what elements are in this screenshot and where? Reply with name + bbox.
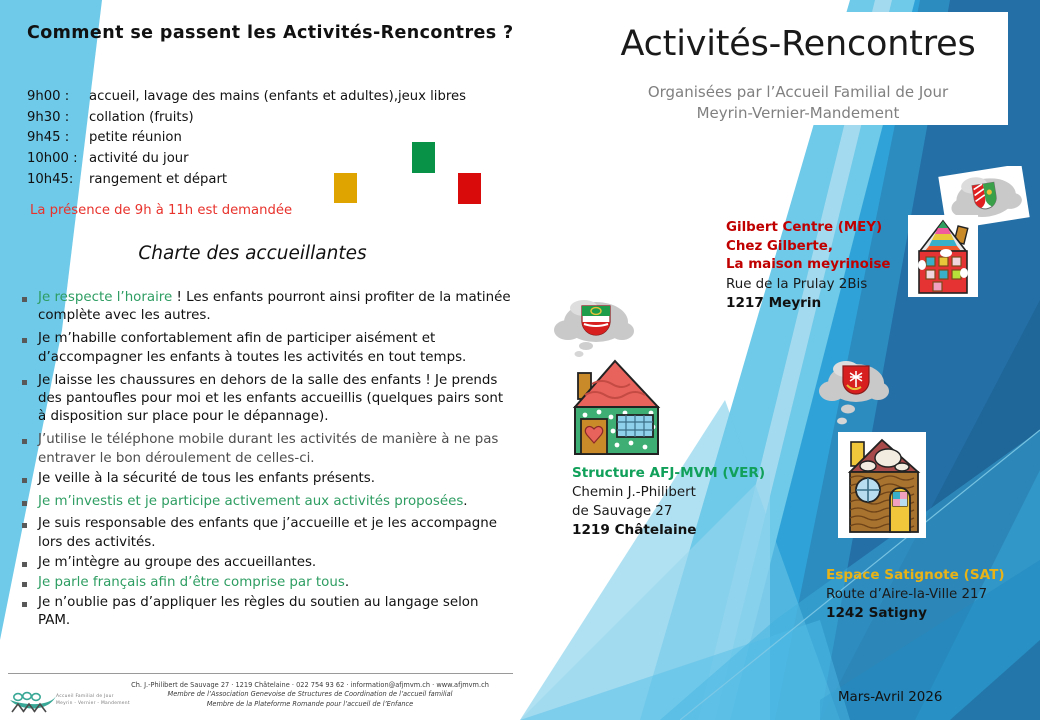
bullet-icon — [22, 574, 38, 592]
location-name-line-2: Chez Gilberte, — [726, 238, 906, 257]
page-title: Comment se passent les Activités-Rencont… — [27, 23, 514, 43]
subtitle-line-2: Meyrin-Vernier-Mandement — [588, 103, 1008, 124]
list-item: J’utilise le téléphone mobile durant les… — [22, 431, 514, 468]
charter-text: Je respecte l’horaire ! Les enfants pour… — [38, 289, 514, 326]
charter-text: Je suis responsable des enfants que j’ac… — [38, 515, 514, 552]
charter-text: Je m’investis et je participe activement… — [38, 493, 514, 511]
location-street-line-2: de Sauvage 27 — [572, 502, 802, 521]
schedule-time: 10h45: — [27, 170, 89, 191]
schedule-activity: accueil, lavage des mains (enfants et ad… — [89, 87, 466, 108]
bullet-icon — [22, 493, 38, 511]
charter-text: J’utilise le téléphone mobile durant les… — [38, 431, 514, 468]
satigny-crest-icon — [812, 353, 898, 431]
location-street: Route d’Aire-la-Ville 217 — [826, 585, 1036, 604]
bullet-icon — [22, 289, 38, 326]
charter-lead: Je parle français afin d’être comprise p… — [38, 575, 345, 590]
charter-rest: . — [463, 494, 467, 509]
flyer-title: Activités-Rencontres — [588, 24, 1008, 64]
wooden-house-icon — [838, 432, 926, 538]
address-structure-afj-mvm: Structure AFJ-MVM (VER) Chemin J.-Philib… — [572, 464, 802, 540]
subtitle-line-1: Organisées par l’Accueil Familial de Jou… — [588, 82, 1008, 103]
bullet-icon — [22, 594, 38, 631]
schedule-list: 9h00 : accueil, lavage des mains (enfant… — [27, 87, 466, 191]
charter-list: Je respecte l’horaire ! Les enfants pour… — [22, 289, 514, 635]
charter-text: Je veille à la sécurité de tous les enfa… — [38, 470, 514, 488]
footer-divider — [8, 673, 513, 674]
bullet-icon — [22, 554, 38, 572]
location-city: 1242 Satigny — [826, 604, 1036, 623]
bullet-icon — [22, 470, 38, 488]
footer-line-2: Membre de l’Association Genevoise de Str… — [110, 690, 510, 699]
footer-line-3: Membre de la Plateforme Romande pour l’a… — [110, 700, 510, 709]
bullet-icon — [22, 431, 38, 468]
charter-lead: Je m’investis et je participe activement… — [38, 494, 463, 509]
schedule-activity: petite réunion — [89, 128, 466, 149]
list-item: Je m’investis et je participe activement… — [22, 493, 514, 511]
list-item: Je laisse les chaussures en dehors de la… — [22, 372, 514, 427]
list-item: Je m’intègre au groupe des accueillantes… — [22, 554, 514, 572]
schedule-activity: rangement et départ — [89, 170, 466, 191]
charter-text: Je n’oublie pas d’appliquer les règles d… — [38, 594, 514, 631]
location-street-line-1: Chemin J.-Philibert — [572, 483, 802, 502]
green-house-icon — [565, 355, 667, 463]
footer-text: Ch. J.-Philibert de Sauvage 27 · 1219 Ch… — [110, 681, 510, 709]
location-street: Rue de la Prulay 2Bis — [726, 275, 906, 294]
charter-title: Charte des accueillantes — [0, 243, 525, 264]
green-flag-icon — [412, 142, 435, 173]
location-name-line-1: Structure AFJ-MVM (VER) — [572, 464, 802, 483]
schedule-row: 10h45: rangement et départ — [27, 170, 466, 191]
footer-line-1: Ch. J.-Philibert de Sauvage 27 · 1219 Ch… — [110, 681, 510, 690]
left-column: Comment se passent les Activités-Rencont… — [0, 0, 525, 720]
presence-note: La présence de 9h à 11h est demandée — [30, 203, 292, 218]
bullet-icon — [22, 515, 38, 552]
location-name-line-1: Espace Satignote (SAT) — [826, 566, 1036, 585]
location-name-line-3: La maison meyrinoise — [726, 256, 906, 275]
list-item: Je veille à la sécurité de tous les enfa… — [22, 470, 514, 488]
date-range: Mars-Avril 2026 — [838, 690, 942, 705]
charter-text: Je m’intègre au groupe des accueillantes… — [38, 554, 514, 572]
schedule-row: 9h30 : collation (fruits) — [27, 108, 466, 129]
schedule-time: 9h30 : — [27, 108, 89, 129]
location-city: 1217 Meyrin — [726, 294, 906, 313]
list-item: Je n’oublie pas d’appliquer les règles d… — [22, 594, 514, 631]
schedule-row: 9h00 : accueil, lavage des mains (enfant… — [27, 87, 466, 108]
schedule-time: 10h00 : — [27, 149, 89, 170]
location-name-line-1: Gilbert Centre (MEY) — [726, 219, 906, 238]
red-flag-icon — [458, 173, 481, 204]
list-item: Je suis responsable des enfants que j’ac… — [22, 515, 514, 552]
red-house-icon — [908, 215, 978, 297]
schedule-row: 10h00 : activité du jour — [27, 149, 466, 170]
schedule-time: 9h00 : — [27, 87, 89, 108]
schedule-time: 9h45 : — [27, 128, 89, 149]
schedule-activity: activité du jour — [89, 149, 466, 170]
bullet-icon — [22, 330, 38, 367]
location-city: 1219 Châtelaine — [572, 521, 802, 540]
bullet-icon — [22, 372, 38, 427]
address-gilbert-centre: Gilbert Centre (MEY) Chez Gilberte, La m… — [726, 219, 906, 313]
charter-rest: . — [345, 575, 349, 590]
charter-text: Je laisse les chaussures en dehors de la… — [38, 372, 514, 427]
vernier-crest-icon — [546, 292, 642, 358]
list-item: Je parle français afin d’être comprise p… — [22, 574, 514, 592]
list-item: Je respecte l’horaire ! Les enfants pour… — [22, 289, 514, 326]
logo-caption-line1: Accueil Familial de Jour — [56, 694, 114, 700]
flyer-page: Comment se passent les Activités-Rencont… — [0, 0, 1040, 720]
charter-lead: Je respecte l’horaire — [38, 290, 172, 305]
schedule-activity: collation (fruits) — [89, 108, 466, 129]
address-espace-satignote: Espace Satignote (SAT) Route d’Aire-la-V… — [826, 566, 1036, 623]
charter-text: Je parle français afin d’être comprise p… — [38, 574, 514, 592]
title-card: Activités-Rencontres Organisées par l’Ac… — [588, 12, 1008, 125]
charter-text: Je m’habille confortablement afin de par… — [38, 330, 514, 367]
schedule-row: 9h45 : petite réunion — [27, 128, 466, 149]
list-item: Je m’habille confortablement afin de par… — [22, 330, 514, 367]
flyer-subtitle: Organisées par l’Accueil Familial de Jou… — [588, 82, 1008, 124]
gold-flag-icon — [334, 173, 357, 203]
